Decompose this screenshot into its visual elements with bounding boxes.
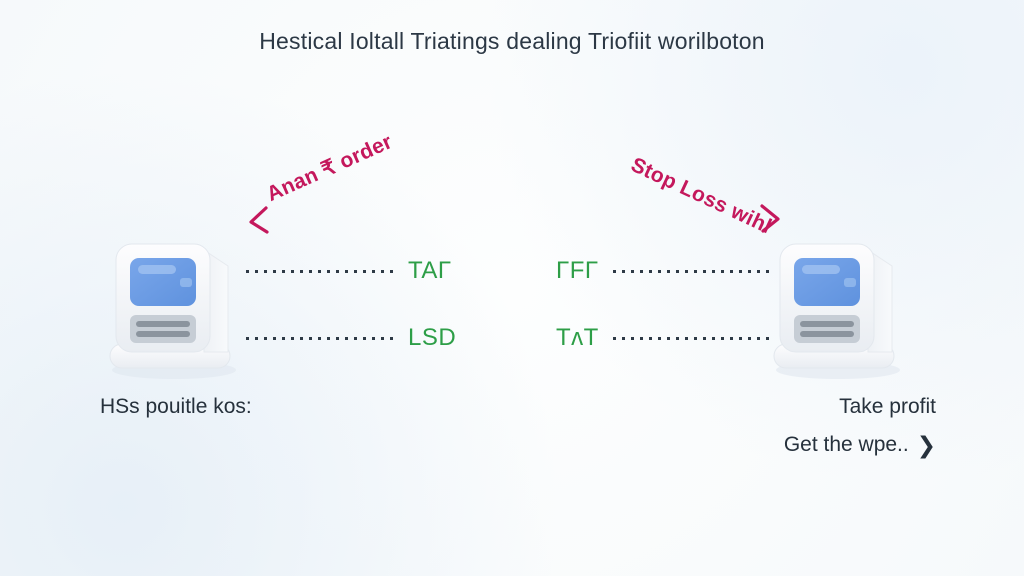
computer-terminal-icon xyxy=(96,232,266,382)
connector-label-bottom-left: LSD xyxy=(408,324,456,352)
dotted-line xyxy=(246,337,394,340)
caption-left: HSs pouitle kos: xyxy=(100,395,252,419)
page-title: Hestical Ioltall Triatings dealing Triof… xyxy=(0,28,1024,55)
chevron-right-icon: ❯ xyxy=(917,434,936,457)
connector-label-top-right: ΓFΓ xyxy=(556,257,599,285)
connector-label-bottom-right: TʌT xyxy=(556,324,599,352)
connector-top-left: TAΓ xyxy=(246,259,452,283)
caption-right-group: Take profit Get the wpe.. ❯ xyxy=(784,388,936,464)
caption-take-profit: Take profit xyxy=(784,388,936,426)
chevron-left-icon xyxy=(246,205,276,235)
connector-top-right: ΓFΓ xyxy=(556,259,769,283)
chevron-right-icon xyxy=(754,204,784,234)
dotted-line xyxy=(246,270,394,273)
annotation-right-stop-loss: Stop Loss wihl xyxy=(627,153,775,239)
computer-terminal-icon xyxy=(760,232,930,382)
diagram-canvas: Hestical Ioltall Triatings dealing Triof… xyxy=(0,0,1024,576)
dotted-line xyxy=(613,337,769,340)
connector-label-top-left: TAΓ xyxy=(408,257,452,285)
caption-right-link-label: Get the wpe.. xyxy=(784,426,909,464)
connector-bottom-right: TʌT xyxy=(556,326,769,350)
dotted-line xyxy=(613,270,769,273)
connector-bottom-left: LSD xyxy=(246,326,456,350)
annotation-left-order: Anan ₹ order xyxy=(263,129,396,207)
caption-right-link[interactable]: Get the wpe.. ❯ xyxy=(784,426,936,464)
